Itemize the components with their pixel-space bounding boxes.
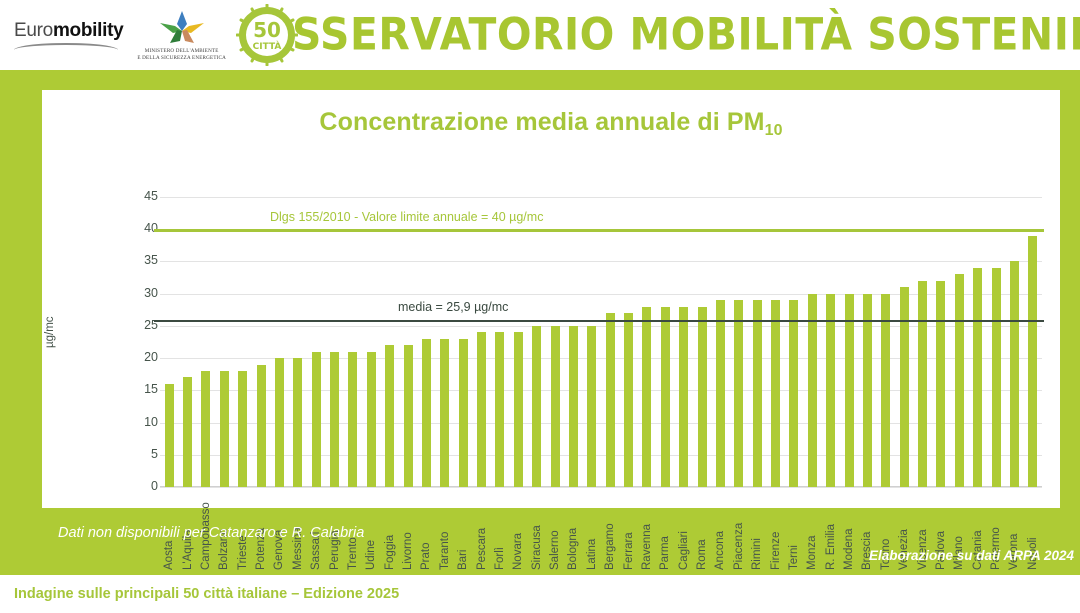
bar[interactable] [551,326,560,487]
bar[interactable] [881,294,890,487]
bar-slot [950,197,968,487]
x-axis-tick-label: Salerno [549,490,561,570]
bar[interactable] [183,377,192,487]
bar[interactable] [495,332,504,487]
bar[interactable] [293,358,302,487]
bar-slot [436,197,454,487]
bar-slot [656,197,674,487]
x-axis-tick: Salerno [546,490,564,570]
y-axis-tick: 5 [118,447,158,461]
plot-area: 051015202530354045Dlgs 155/2010 - Valore… [160,197,1042,487]
x-axis-tick: Bergamo [601,490,619,570]
x-axis-tick-label: Forlì [494,490,506,570]
x-axis-tick-label: Siracusa [531,490,543,570]
bar-slot [289,197,307,487]
page-footer: Indagine sulle principali 50 città itali… [0,575,1080,613]
observatory-title-text: SSERVATORIO MOBILITÀ SOSTENIBILE IN ITAL… [292,10,1080,59]
bar[interactable] [1010,261,1019,487]
bar-slot [528,197,546,487]
page-header: Euromobility MINISTERO DELL'AMBIENTE E D… [0,0,1080,70]
x-axis-tick-label: Taranto [439,490,451,570]
mean-line [154,320,1044,322]
bar[interactable] [900,287,909,487]
bar-slot [675,197,693,487]
bar-slot [987,197,1005,487]
bar-slot [1024,197,1042,487]
bar[interactable] [440,339,449,487]
x-axis-tick: Terni [785,490,803,570]
x-axis-tick-label: Udine [365,490,377,570]
bar-slot [344,197,362,487]
ministero-line-2: E DELLA SICUREZZA ENERGETICA [137,55,226,62]
bar[interactable] [606,313,615,487]
bar[interactable] [569,326,578,487]
bar[interactable] [753,300,762,487]
x-axis-tick-label: Latina [586,490,598,570]
y-axis-tick: 40 [118,221,158,235]
gridline [160,487,1042,488]
bar[interactable] [422,339,431,487]
x-axis-tick-label: Monza [806,490,818,570]
bar-slot [197,197,215,487]
bar-slot [472,197,490,487]
bar-slot [858,197,876,487]
y-axis-tick: 25 [118,318,158,332]
bar-slot [491,197,509,487]
x-axis-tick-label: Modena [843,490,855,570]
x-axis-tick-label: Ferrara [623,490,635,570]
bar[interactable] [330,352,339,487]
bar[interactable] [698,307,707,487]
y-axis-tick: 30 [118,286,158,300]
euromobility-swoosh-icon [14,43,118,50]
x-axis-tick-label: Ancona [714,490,726,570]
x-axis-tick: Cagliari [675,490,693,570]
bar[interactable] [587,326,596,487]
x-axis-tick: Foggia [381,490,399,570]
bar-slot [381,197,399,487]
x-axis-tick-label: Ravenna [641,490,653,570]
bar-slot [840,197,858,487]
bar-slot [822,197,840,487]
y-axis-tick: 10 [118,415,158,429]
bar-slot [693,197,711,487]
bar[interactable] [404,345,413,487]
bar-slot [509,197,527,487]
x-axis-tick: Pescara [472,490,490,570]
x-axis-tick: Parma [656,490,674,570]
x-axis-tick-label: Roma [696,490,708,570]
x-axis-tick: Novara [509,490,527,570]
content-panel: Concentrazione media annuale di PM10 µg/… [0,70,1080,575]
bar[interactable] [459,339,468,487]
bar-slot [215,197,233,487]
x-axis-tick-label: Pescara [476,490,488,570]
ministero-caption: MINISTERO DELL'AMBIENTE E DELLA SICUREZZ… [137,48,226,62]
observatory-title: 50 CITTÀ SSERVATORIO MOBILITÀ SOSTENIBIL… [236,4,1080,66]
x-axis-tick-label: Novara [512,490,524,570]
bar[interactable] [201,371,210,487]
x-axis-tick-label: Bari [457,490,469,570]
bar[interactable] [385,345,394,487]
chart-title: Concentrazione media annuale di PM10 [42,90,1060,137]
x-axis-tick-label: Prato [420,490,432,570]
euromobility-logo: Euromobility [14,20,123,50]
bar[interactable] [845,294,854,487]
ministero-line-1: MINISTERO DELL'AMBIENTE [137,48,226,55]
bar[interactable] [532,326,541,487]
x-axis-tick-label: Parma [659,490,671,570]
badge-word: CITTÀ [253,40,282,52]
y-axis-tick: 15 [118,382,158,396]
bar[interactable] [918,281,927,487]
bar-slot [877,197,895,487]
chart-card: Concentrazione media annuale di PM10 µg/… [42,90,1060,508]
x-axis-tick: Bologna [564,490,582,570]
bar[interactable] [348,352,357,487]
bar-slot [638,197,656,487]
bar[interactable] [514,332,523,487]
bar-slot [711,197,729,487]
bar-slot [325,197,343,487]
x-axis-tick-label: R. Emilia [825,490,837,570]
x-axis-tick: Latina [583,490,601,570]
limit-label: Dlgs 155/2010 - Valore limite annuale = … [270,210,543,224]
bar[interactable] [716,300,725,487]
bar-slot [785,197,803,487]
x-axis-tick: Monza [803,490,821,570]
badge-number: 50 [253,18,281,42]
bar-slot [895,197,913,487]
x-axis-tick: Ravenna [638,490,656,570]
bar-series [160,197,1042,487]
x-axis-tick: Siracusa [528,490,546,570]
bar[interactable] [936,281,945,487]
bar-slot [546,197,564,487]
x-axis-tick: R. Emilia [822,490,840,570]
bar[interactable] [624,313,633,487]
bar[interactable] [367,352,376,487]
bar-slot [932,197,950,487]
bar-slot [619,197,637,487]
x-axis-tick: Firenze [766,490,784,570]
bar[interactable] [863,294,872,487]
bar-slot [913,197,931,487]
x-axis-tick-label: Rimini [751,490,763,570]
x-axis-tick: Udine [362,490,380,570]
x-axis-tick-label: Livorno [402,490,414,570]
footer-caption: Indagine sulle principali 50 città itali… [14,586,399,602]
y-axis-tick: 20 [118,350,158,364]
chart-title-main: Concentrazione media annuale di PM [319,108,764,136]
bar[interactable] [771,300,780,487]
y-axis-tick: 0 [118,479,158,493]
bar-slot [454,197,472,487]
bar-slot [766,197,784,487]
y-axis-tick: 35 [118,253,158,267]
bar-slot [270,197,288,487]
bar-slot [1005,197,1023,487]
ministero-logo: MINISTERO DELL'AMBIENTE E DELLA SICUREZZ… [137,9,226,62]
bar-slot [178,197,196,487]
bar[interactable] [789,300,798,487]
euromobility-wordmark: Euromobility [14,20,123,42]
bar[interactable] [808,294,817,487]
bar[interactable] [734,300,743,487]
bar-slot [362,197,380,487]
bar[interactable] [992,268,1001,487]
x-axis-tick-label: Foggia [384,490,396,570]
bar[interactable] [661,307,670,487]
mean-label: media = 25,9 µg/mc [398,300,508,314]
bar-slot [234,197,252,487]
x-axis-tick: Ferrara [619,490,637,570]
x-axis-tick-label: Cagliari [678,490,690,570]
fifty-citta-badge-icon: 50 CITTÀ [236,4,298,66]
bar-slot [730,197,748,487]
chart-note: Dati non disponibili per Catanzaro e R. … [58,525,364,541]
plot-wrapper: µg/mc 051015202530354045Dlgs 155/2010 - … [42,142,1060,508]
bar-slot [748,197,766,487]
x-axis-tick-label: Piacenza [733,490,745,570]
bar[interactable] [955,274,964,487]
x-axis-tick: Rimini [748,490,766,570]
x-axis-tick: Livorno [399,490,417,570]
bar-slot [307,197,325,487]
bar-slot [564,197,582,487]
x-axis-tick: Taranto [436,490,454,570]
bar[interactable] [257,365,266,487]
bar[interactable] [1028,236,1037,487]
bar[interactable] [477,332,486,487]
bar[interactable] [165,384,174,487]
x-axis-tick: Bari [454,490,472,570]
chart-title-subscript: 10 [765,122,783,139]
euromobility-bold: mobility [53,20,123,41]
bar-slot [417,197,435,487]
ministero-star-icon [158,9,206,45]
bar-slot [803,197,821,487]
bar[interactable] [220,371,229,487]
elaboration-credit: Elaborazione su dati ARPA 2024 [869,548,1074,563]
x-axis-tick: Piacenza [730,490,748,570]
bar[interactable] [679,307,688,487]
x-axis-tick-label: Firenze [770,490,782,570]
bar[interactable] [312,352,321,487]
x-axis-tick-label: Bergamo [604,490,616,570]
y-axis-tick: 45 [118,189,158,203]
x-axis-tick-label: Bologna [567,490,579,570]
bar[interactable] [973,268,982,487]
x-axis-tick: Ancona [711,490,729,570]
bar-slot [583,197,601,487]
bar[interactable] [275,358,284,487]
bar-slot [160,197,178,487]
limit-line [154,229,1044,232]
y-axis-label: µg/mc [44,316,56,348]
x-axis-tick: Modena [840,490,858,570]
bar-slot [252,197,270,487]
bar[interactable] [238,371,247,487]
euromobility-prefix: Euro [14,20,53,41]
x-axis-tick: Prato [417,490,435,570]
x-axis-tick-label: Terni [788,490,800,570]
bar[interactable] [826,294,835,487]
x-axis-tick: Roma [693,490,711,570]
bar-slot [969,197,987,487]
bar-slot [601,197,619,487]
bar[interactable] [642,307,651,487]
bar-slot [399,197,417,487]
x-axis-tick: Forlì [491,490,509,570]
